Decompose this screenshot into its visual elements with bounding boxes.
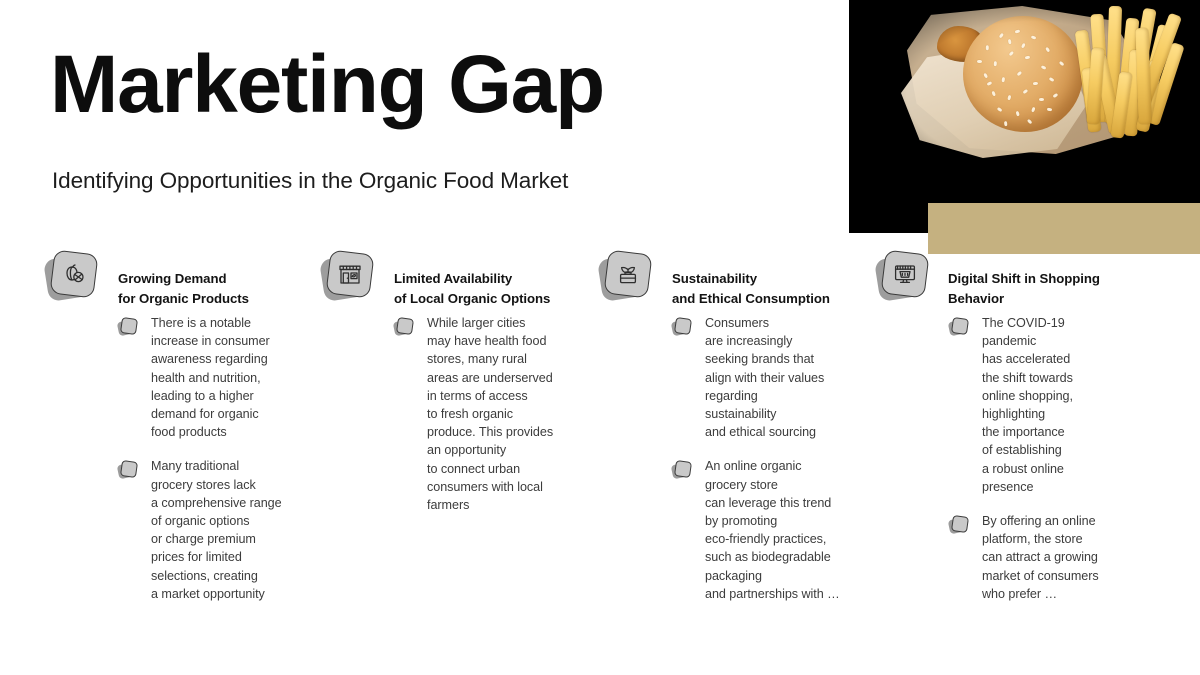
bullet-face — [951, 515, 969, 533]
bullet-text: An online organic grocery store can leve… — [705, 457, 878, 603]
storefront-icon — [322, 252, 368, 298]
icon-tile — [325, 249, 374, 298]
bullet-face — [674, 460, 692, 478]
sesame-seed — [1021, 43, 1026, 49]
sesame-seed — [1015, 111, 1020, 117]
content-column: Digital Shift in Shopping BehaviorThe CO… — [875, 250, 1180, 619]
column-title: Limited Availability of Local Organic Op… — [394, 250, 600, 308]
bullet-face — [951, 317, 969, 335]
sesame-seed — [1031, 35, 1037, 40]
hero-photo — [849, 0, 1200, 233]
list-item: While larger cities may have health food… — [394, 314, 600, 514]
list-item: Many traditional grocery stores lack a c… — [118, 457, 324, 603]
pumpkin-citrus-icon — [46, 252, 92, 298]
bullet-text: By offering an online platform, the stor… — [982, 512, 1180, 603]
sesame-seed — [1045, 47, 1051, 53]
sesame-seed — [1007, 39, 1011, 45]
sesame-seed — [1033, 82, 1038, 86]
bullet-square-icon — [394, 318, 411, 335]
photo-stage — [849, 0, 1200, 233]
sesame-seed — [1031, 107, 1036, 113]
bullet-square-icon — [949, 318, 966, 335]
online-shopping-basket-icon — [877, 252, 923, 298]
sesame-seed — [1025, 56, 1031, 60]
accent-band — [928, 203, 1200, 254]
bullet-square-icon — [118, 318, 135, 335]
bullet-face — [674, 317, 692, 335]
sesame-seed — [986, 81, 992, 86]
column-header: Sustainability and Ethical Consumption — [598, 250, 878, 308]
list-item: There is a notable increase in consumer … — [118, 314, 324, 441]
sesame-seed — [999, 33, 1005, 39]
list-item: Consumers are increasingly seeking brand… — [672, 314, 878, 441]
column-title: Digital Shift in Shopping Behavior — [948, 250, 1180, 308]
sesame-seed — [1048, 77, 1054, 82]
sesame-seed — [1039, 98, 1044, 101]
sesame-seed — [977, 60, 982, 64]
bullet-square-icon — [672, 318, 689, 335]
column-title: Growing Demand for Organic Products — [118, 250, 324, 308]
sesame-seed — [994, 61, 998, 66]
bullet-text: Consumers are increasingly seeking brand… — [705, 314, 878, 441]
sesame-seed — [1022, 89, 1028, 95]
page-title: Marketing Gap — [50, 44, 604, 126]
bullet-face — [120, 317, 138, 335]
sesame-seed — [1009, 51, 1015, 57]
sesame-seed — [1001, 77, 1005, 83]
sesame-seed — [1007, 95, 1012, 101]
bullet-face — [396, 317, 414, 335]
sesame-seed — [1027, 119, 1033, 125]
bullet-square-icon — [118, 461, 135, 478]
bullet-square-icon — [949, 516, 966, 533]
column-header: Digital Shift in Shopping Behavior — [875, 250, 1180, 308]
sesame-seed — [1015, 29, 1021, 34]
bullet-text: Many traditional grocery stores lack a c… — [151, 457, 324, 603]
list-item: The COVID-19 pandemic has accelerated th… — [949, 314, 1180, 496]
column-title: Sustainability and Ethical Consumption — [672, 250, 878, 308]
content-column: Growing Demand for Organic ProductsThere… — [44, 250, 324, 619]
sprout-briefcase-icon — [600, 252, 646, 298]
bullet-list: There is a notable increase in consumer … — [44, 314, 324, 603]
sesame-seed — [1004, 121, 1008, 126]
bullet-list: Consumers are increasingly seeking brand… — [598, 314, 878, 603]
sesame-seed — [1047, 108, 1052, 112]
sesame-seed — [983, 73, 988, 79]
sesame-seed — [991, 91, 996, 97]
icon-tile — [603, 249, 652, 298]
content-columns: Growing Demand for Organic ProductsThere… — [0, 250, 1200, 660]
bullet-list: The COVID-19 pandemic has accelerated th… — [875, 314, 1180, 603]
sesame-seed — [1017, 71, 1023, 77]
sesame-seed — [1059, 61, 1065, 67]
page-subtitle: Identifying Opportunities in the Organic… — [52, 168, 568, 194]
content-column: Limited Availability of Local Organic Op… — [320, 250, 600, 530]
bullet-list: While larger cities may have health food… — [320, 314, 600, 514]
bullet-text: While larger cities may have health food… — [427, 314, 600, 514]
sesame-seed — [1041, 65, 1047, 70]
list-item: An online organic grocery store can leve… — [672, 457, 878, 603]
icon-tile — [880, 249, 929, 298]
bullet-square-icon — [672, 461, 689, 478]
bullet-text: The COVID-19 pandemic has accelerated th… — [982, 314, 1180, 496]
french-fries — [1077, 2, 1183, 150]
sesame-seed — [996, 107, 1002, 113]
column-header: Growing Demand for Organic Products — [44, 250, 324, 308]
bullet-text: There is a notable increase in consumer … — [151, 314, 324, 441]
column-header: Limited Availability of Local Organic Op… — [320, 250, 600, 308]
sesame-seed — [1052, 93, 1058, 99]
list-item: By offering an online platform, the stor… — [949, 512, 1180, 603]
burger-bun — [963, 16, 1083, 132]
bullet-face — [120, 460, 138, 478]
content-column: Sustainability and Ethical ConsumptionCo… — [598, 250, 878, 619]
sesame-seed — [986, 45, 989, 50]
icon-tile — [49, 249, 98, 298]
